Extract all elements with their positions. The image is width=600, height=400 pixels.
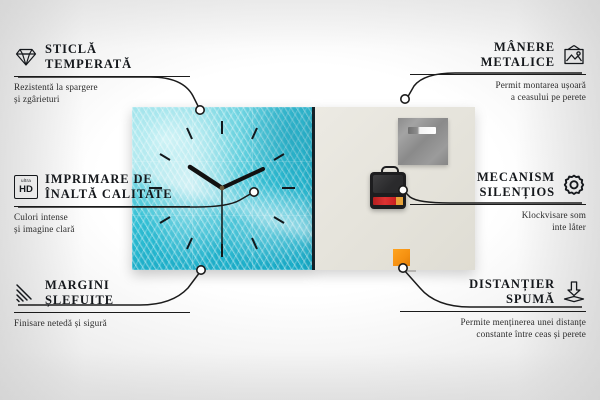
feature-title-line2: SILENȚIOS — [480, 185, 556, 199]
feature-title-line2: TEMPERATĂ — [45, 57, 132, 71]
ultra-hd-badge-icon: ultra HD — [14, 175, 38, 199]
feature-header: DISTANȚIER SPUMĂ — [400, 277, 586, 307]
feature-subtitle-line2: constante între ceas și perete — [476, 329, 586, 339]
feature-silent-mechanism: MECANISM SILENȚIOS Klockvisare som inte … — [410, 170, 586, 233]
feature-subtitle-line2: inte låter — [552, 222, 586, 232]
feature-title-line1: MECANISM — [477, 170, 555, 184]
hd-badge-main-text: HD — [19, 185, 33, 195]
callout-dot-handles — [401, 95, 409, 103]
battery-terminal — [396, 197, 403, 205]
feature-title-line1: MARGINI — [45, 278, 110, 292]
feature-polished-edges: MARGINI ȘLEFUITE Finisare netedă și sigu… — [14, 278, 190, 329]
feature-title-line2: ȘLEFUITE — [45, 293, 114, 307]
feature-subtitle-line1: Klockvisare som — [522, 210, 586, 220]
feature-subtitle-line1: Permit montarea ușoară — [495, 80, 586, 90]
wall-hanger-frame-icon — [562, 43, 586, 67]
feature-title-line1: MÂNERE — [494, 40, 555, 54]
feature-subtitle-line2: și zgârieturi — [14, 94, 60, 104]
feature-title-line2: METALICE — [481, 55, 555, 69]
feature-divider — [14, 312, 190, 313]
feature-subtitle-line2: a ceasului pe perete — [511, 92, 586, 102]
feature-high-quality-print: ultra HD IMPRIMARE DE ÎNALTĂ CALITATE Cu… — [14, 172, 190, 235]
feature-divider — [400, 311, 586, 312]
feature-subtitle: Finisare netedă și sigură — [14, 317, 190, 329]
clock-mechanism-part — [370, 172, 406, 209]
feature-header: MARGINI ȘLEFUITE — [14, 278, 190, 308]
feature-subtitle: Klockvisare som inte låter — [410, 209, 586, 233]
feature-subtitle-line1: Rezistentă la spargere — [14, 82, 98, 92]
feature-subtitle-line1: Culori intense — [14, 212, 68, 222]
foam-spacer-part — [393, 249, 410, 266]
feature-divider — [410, 204, 586, 205]
gear-icon — [562, 173, 586, 197]
feature-subtitle-line1: Permite menținerea unei distanțe — [461, 317, 586, 327]
feature-subtitle: Permit montarea ușoară a ceasului pe per… — [410, 79, 586, 103]
feature-title: DISTANȚIER SPUMĂ — [469, 277, 555, 307]
feature-header: MÂNERE METALICE — [410, 40, 586, 70]
feature-header: MECANISM SILENȚIOS — [410, 170, 586, 200]
foam-spacer-arrow-icon — [562, 280, 586, 304]
feature-title: MARGINI ȘLEFUITE — [45, 278, 114, 308]
feature-divider — [410, 74, 586, 75]
feature-header: STICLĂ TEMPERATĂ — [14, 42, 190, 72]
metal-hanger-part — [398, 118, 448, 165]
feature-title-line1: IMPRIMARE DE — [45, 172, 153, 186]
polished-edge-lines-icon — [14, 281, 38, 305]
feature-title-line2: ÎNALTĂ CALITATE — [45, 187, 173, 201]
mechanism-body — [373, 175, 403, 193]
feature-title-line1: DISTANȚIER — [469, 277, 555, 291]
feature-title: STICLĂ TEMPERATĂ — [45, 42, 132, 72]
feature-divider — [14, 76, 190, 77]
feature-foam-spacer: DISTANȚIER SPUMĂ Permite menținerea unei… — [400, 277, 586, 340]
feature-title-line2: SPUMĂ — [506, 292, 555, 306]
feature-subtitle: Permite menținerea unei distanțe constan… — [400, 316, 586, 340]
feature-subtitle-line1: Finisare netedă și sigură — [14, 318, 107, 328]
feature-title: MÂNERE METALICE — [481, 40, 555, 70]
feature-title: IMPRIMARE DE ÎNALTĂ CALITATE — [45, 172, 173, 202]
feature-subtitle: Rezistentă la spargere și zgârieturi — [14, 81, 190, 105]
feature-metal-handles: MÂNERE METALICE Permit montarea ușoară — [410, 40, 586, 103]
feature-subtitle-line2: și imagine clară — [14, 224, 75, 234]
feature-subtitle: Culori intense și imagine clară — [14, 211, 190, 235]
hanger-keyhole-slot — [408, 127, 436, 134]
feature-title: MECANISM SILENȚIOS — [477, 170, 555, 200]
feature-divider — [14, 206, 190, 207]
feature-header: ultra HD IMPRIMARE DE ÎNALTĂ CALITATE — [14, 172, 190, 202]
diamond-icon — [14, 45, 38, 69]
feature-tempered-glass: STICLĂ TEMPERATĂ Rezistentă la spargere … — [14, 42, 190, 105]
feature-title-line1: STICLĂ — [45, 42, 97, 56]
infographic-canvas: STICLĂ TEMPERATĂ Rezistentă la spargere … — [0, 0, 600, 400]
